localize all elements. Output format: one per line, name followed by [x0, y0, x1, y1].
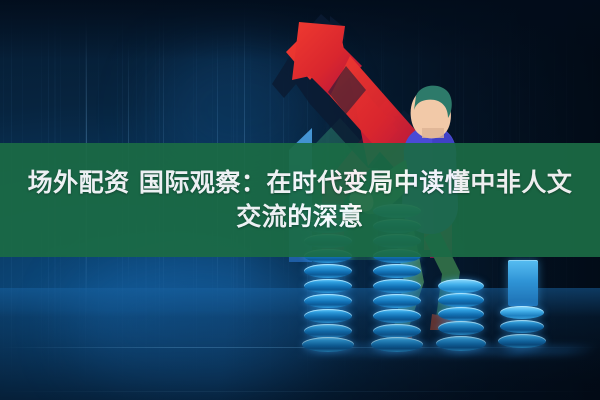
background-bottom-fade	[0, 310, 600, 400]
coin	[373, 264, 421, 278]
coin	[304, 264, 352, 278]
caption-line-1: 场外配资 国际观察：在时代变局中读懂中非人文	[28, 166, 573, 200]
coin	[304, 279, 352, 293]
coin	[373, 294, 421, 308]
caption-line-2: 交流的深意	[236, 200, 364, 234]
banknote	[508, 260, 538, 306]
caption-band: 场外配资 国际观察：在时代变局中读懂中非人文 交流的深意	[0, 143, 600, 257]
coin	[373, 279, 421, 293]
news-banner: 场外配资 国际观察：在时代变局中读懂中非人文 交流的深意	[0, 0, 600, 400]
coin	[304, 294, 352, 308]
coin	[438, 293, 484, 307]
coin	[438, 279, 484, 293]
